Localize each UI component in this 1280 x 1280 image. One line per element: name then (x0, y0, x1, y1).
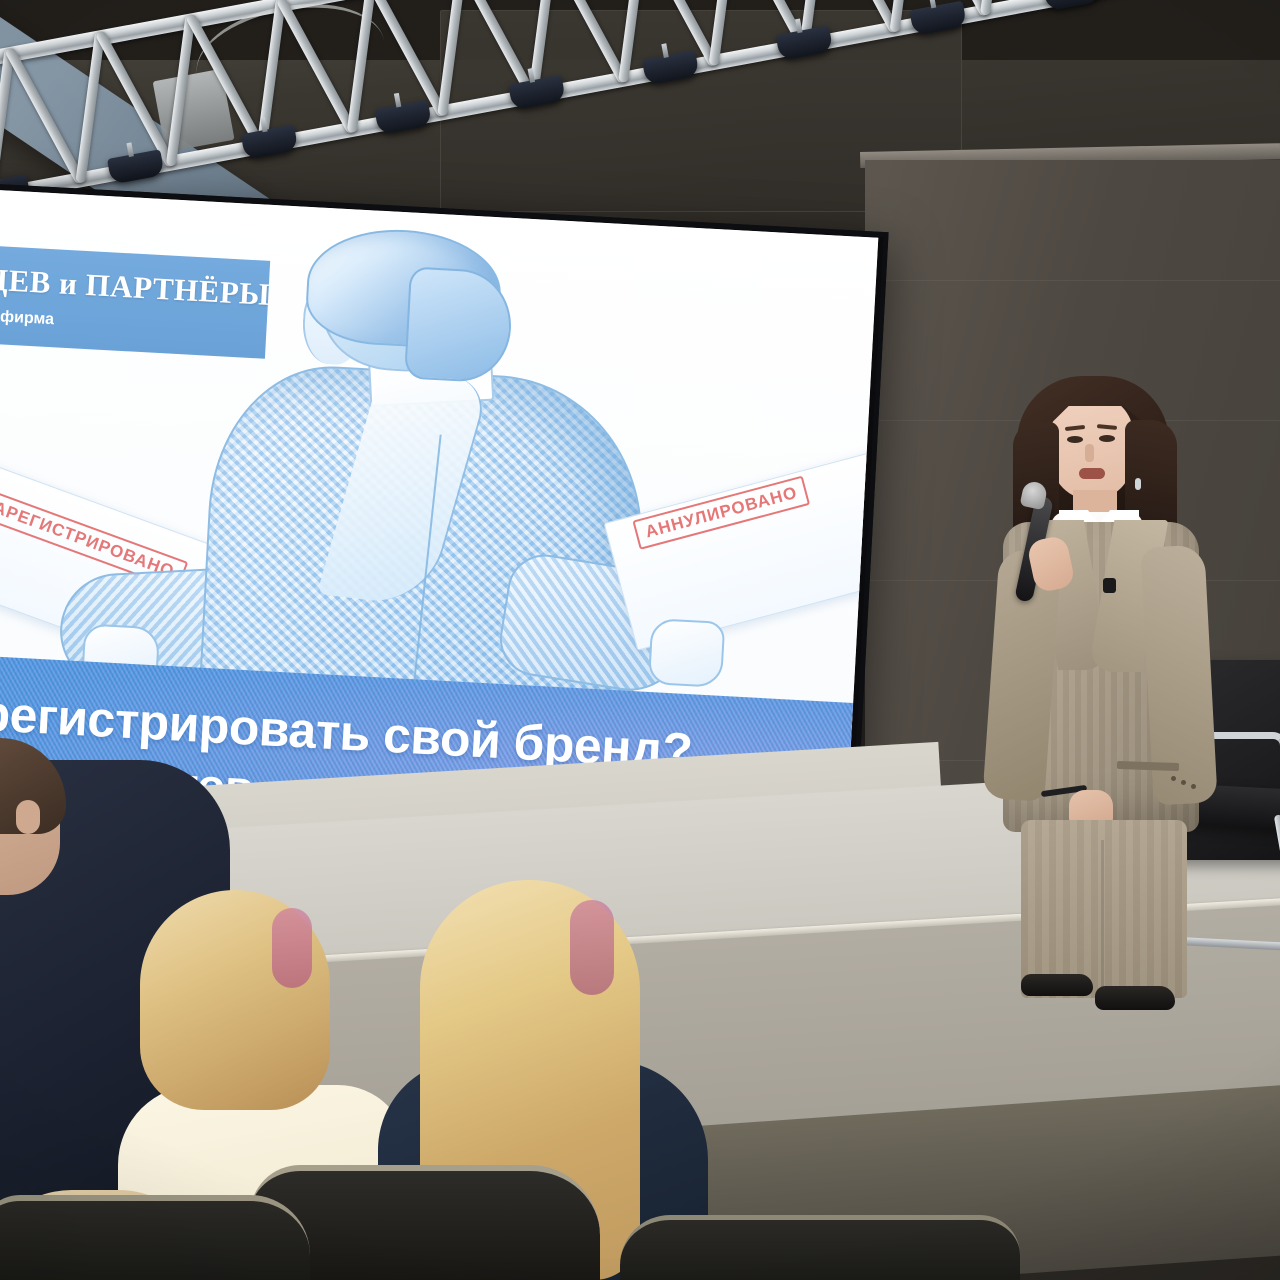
stage-light-clamp (374, 100, 432, 135)
audience-woman2-hair-highlight (570, 900, 614, 995)
stage-light-clamp (107, 149, 165, 184)
stage-light-clamp (776, 25, 834, 60)
firm-logo-box: ОЛНЦЕВ и ПАРТНЁРЫ идическая фирма (0, 241, 270, 359)
presenter-shoe-right (1095, 986, 1175, 1010)
truss-brace (366, 0, 447, 118)
conference-photo-scene: ЗАРЕГИСТРИРОВАНО АННУЛИРОВАНО ОЛНЦЕВ и П… (0, 0, 1280, 1280)
illustration-hand-right (648, 618, 725, 688)
audience-woman1-hair-highlight (272, 908, 312, 988)
stage-light-clamp (508, 75, 566, 110)
firm-name-text: ОЛНЦЕВ и ПАРТНЁРЫ (0, 258, 273, 313)
presenter-nose (1085, 444, 1094, 462)
presenter-trouser-seam (1101, 840, 1104, 990)
presenter-shoe-left (1021, 974, 1093, 996)
firm-tagline-text: идическая фирма (0, 304, 54, 330)
truss-brace (547, 0, 628, 84)
presenter-figure (985, 370, 1215, 1010)
presenter-eye-left (1067, 436, 1083, 443)
stage-light-clamp (909, 1, 967, 36)
audience-chair-back-3 (620, 1215, 1020, 1280)
presenter-eye-right (1099, 435, 1115, 442)
presenter-trousers (1021, 820, 1187, 998)
truss-brace (75, 31, 105, 183)
stage-light-clamp (1043, 0, 1101, 11)
truss-brace (4, 47, 85, 185)
stage-light-clamp (642, 50, 700, 85)
earring-icon (1135, 478, 1141, 490)
presenter-mouth (1079, 468, 1105, 479)
audience-man-ear (16, 800, 40, 834)
truss-brace (437, 0, 467, 116)
audience-chair-back-1 (0, 1195, 310, 1280)
lapel-microphone-icon (1103, 578, 1116, 593)
